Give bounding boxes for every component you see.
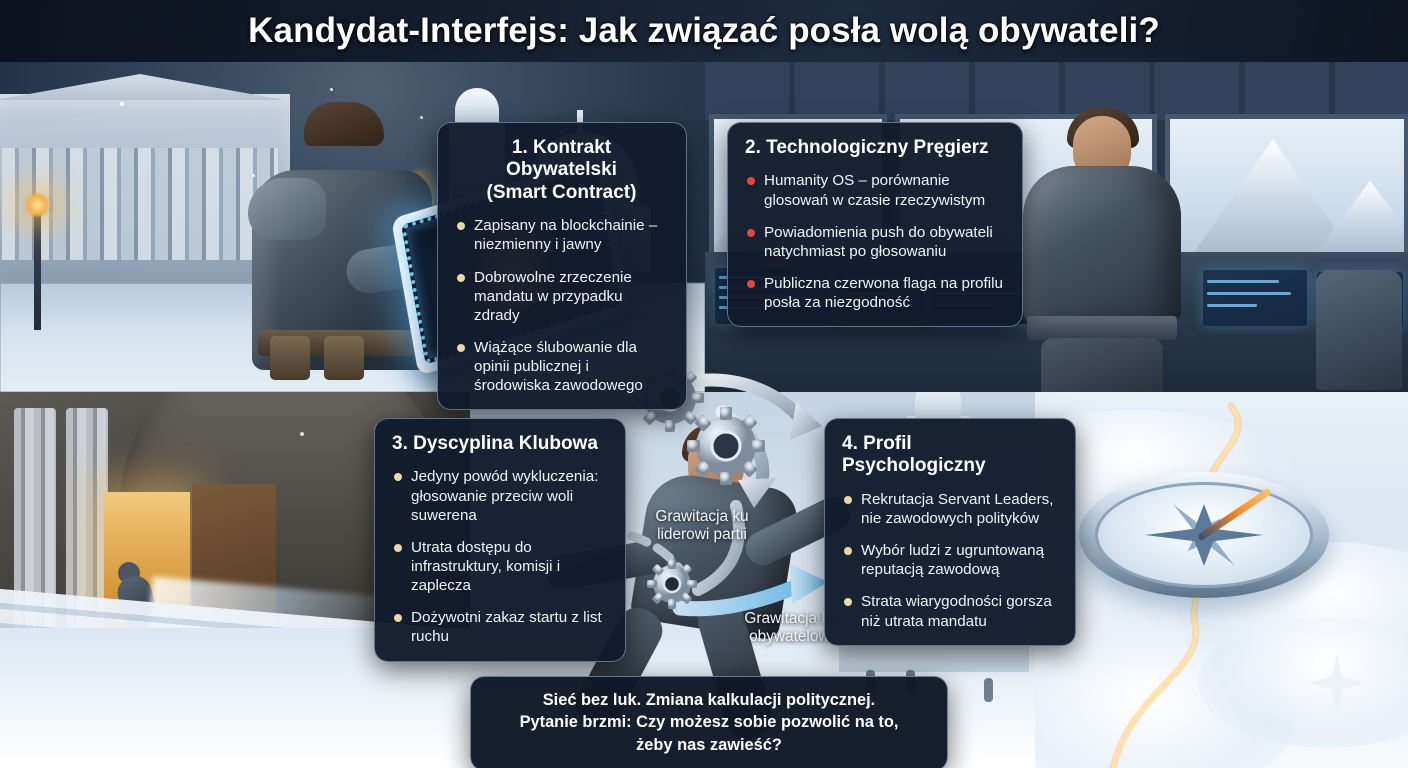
page-title: Kandydat-Interfejs: Jak związać posła wo… (248, 11, 1160, 51)
list-item: Humanity OS – porównanie glosowań w czas… (745, 171, 1004, 209)
conclusion-box[interactable]: Sieć bez luk. Zmiana kalkulacji politycz… (470, 676, 948, 768)
card-contract-obywatelski[interactable]: 1. Kontrakt Obywatelski (Smart Contract)… (437, 122, 687, 410)
compass (1079, 472, 1329, 598)
card-profil-psychologiczny[interactable]: 4. Profil Psychologiczny Rekrutacja Serv… (824, 418, 1076, 646)
card-dyscyplina-klubowa[interactable]: 3. Dyscyplina Klubowa Jedyny powód wyklu… (374, 418, 626, 662)
illustration-compass-path (1035, 392, 1408, 768)
card-bullet-list: Rekrutacja Servant Leaders, nie zawodowy… (842, 490, 1057, 631)
list-item: Utrata dostępu do infrastruktury, komisj… (392, 538, 607, 595)
list-item: Rekrutacja Servant Leaders, nie zawodowy… (842, 490, 1057, 528)
list-item: Jedyny powód wykluczenia: głosowanie prz… (392, 467, 607, 524)
label-gravity-to-party-leader: Grawitacja ku liderowi partii (632, 508, 772, 545)
infographic-root: Kandydat-Interfejs: Jak związać posła wo… (0, 0, 1408, 768)
operator-figure (1001, 110, 1201, 392)
list-item: Wiążące ślubowanie dla opinii publicznej… (455, 338, 668, 395)
list-item: Dobrowolne zrzeczenie mandatu w przypadk… (455, 268, 668, 325)
card-technologiczny-pregierz[interactable]: 2. Technologiczny Pręgierz Humanity OS –… (727, 122, 1023, 327)
street-lamp-icon (34, 212, 41, 330)
window-right (1165, 114, 1408, 266)
card-title: 4. Profil Psychologiczny (842, 433, 1057, 478)
card-title: 2. Technologiczny Pręgierz (745, 137, 1004, 159)
list-item: Dożywotni zakaz startu z list ruchu (392, 608, 607, 646)
list-item: Powiadomienia push do obywateli natychmi… (745, 223, 1004, 261)
list-item: Wybór ludzi z ugruntowaną reputacją zawo… (842, 541, 1057, 579)
monitor (1203, 270, 1307, 326)
card-title: 1. Kontrakt Obywatelski (Smart Contract) (455, 137, 668, 204)
flow-connector: Grawitacja ku liderowi partii Grawitacja… (626, 368, 856, 668)
gear-icon (687, 407, 765, 485)
card-bullet-list: Zapisany na blockchainie – niezmienny i … (455, 216, 668, 395)
list-item: Strata wiarygodności gorsza niż utrata m… (842, 592, 1057, 630)
gear-icon (647, 559, 697, 609)
card-bullet-list: Jedyny powód wykluczenia: głosowanie prz… (392, 467, 607, 646)
card-bullet-list: Humanity OS – porównanie glosowań w czas… (745, 171, 1004, 312)
conclusion-line-3: żeby nas zawieść? (491, 734, 927, 756)
conclusion-line-2: Pytanie brzmi: Czy możesz sobie pozwolić… (491, 711, 927, 733)
list-item: Publiczna czerwona flaga na profilu posł… (745, 274, 1004, 312)
office-chair (1316, 270, 1402, 390)
page-title-bar: Kandydat-Interfejs: Jak związać posła wo… (0, 0, 1408, 62)
conclusion-line-1: Sieć bez luk. Zmiana kalkulacji politycz… (491, 689, 927, 711)
list-item: Zapisany na blockchainie – niezmienny i … (455, 216, 668, 254)
card-title: 3. Dyscyplina Klubowa (392, 433, 607, 455)
